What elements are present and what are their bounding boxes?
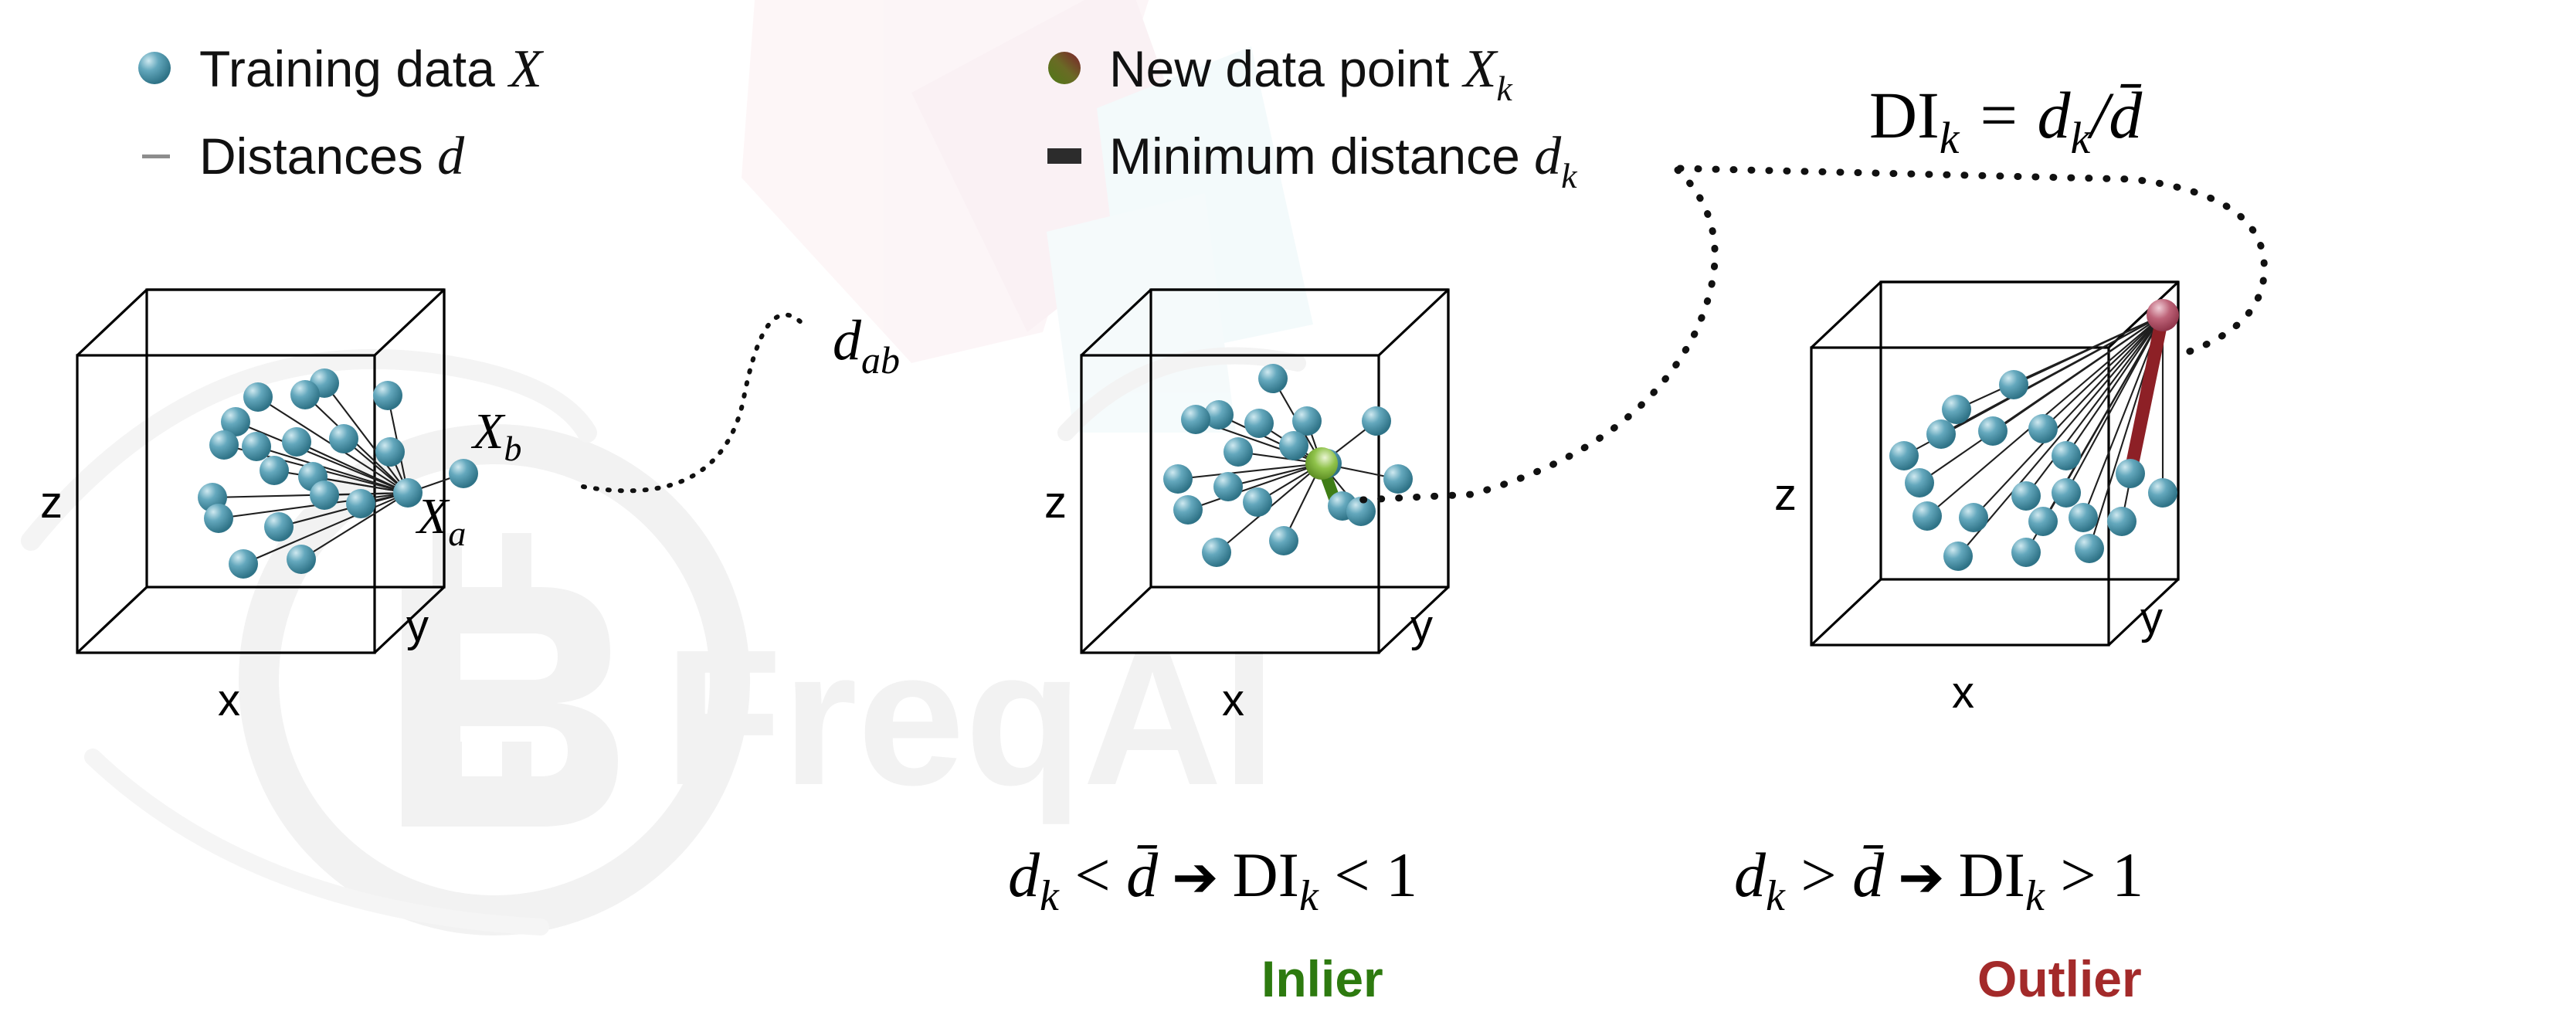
dk-callout-to-inlier	[1348, 170, 1715, 501]
dk-callout-to-outlier	[1680, 168, 2264, 355]
figure-canvas: FreqAI Training data X Distances d New d…	[0, 0, 2576, 1022]
callout-layer	[0, 0, 2576, 1022]
